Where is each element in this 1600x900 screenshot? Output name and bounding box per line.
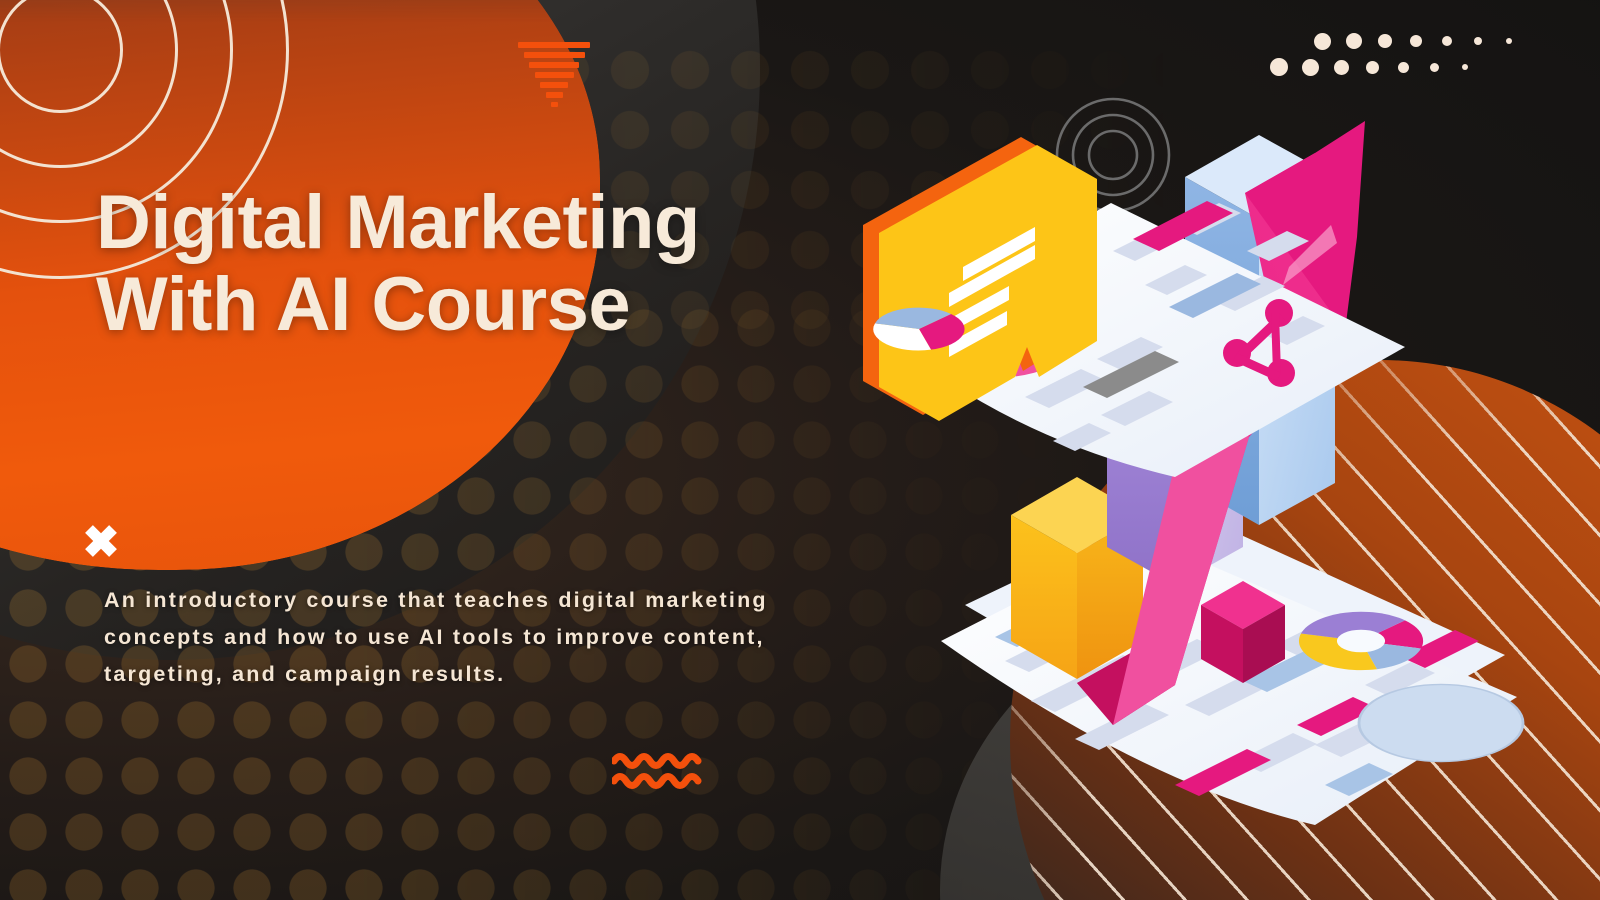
headline-line-1: Digital Marketing [96, 180, 700, 265]
x-mark-icon [84, 524, 118, 558]
banner-canvas: Digital Marketing With AI Course An intr… [0, 0, 1600, 900]
funnel-triangle-icon [518, 42, 590, 111]
copy-block: Digital Marketing With AI Course [96, 186, 886, 343]
page-title: Digital Marketing With AI Course [96, 186, 886, 343]
squiggle-wave-icon [612, 752, 708, 792]
course-description: An introductory course that teaches digi… [104, 582, 834, 694]
dot-grid-icon [1270, 28, 1512, 80]
headline-line-2: With AI Course [96, 268, 886, 342]
isometric-analytics-illustration [845, 85, 1585, 875]
